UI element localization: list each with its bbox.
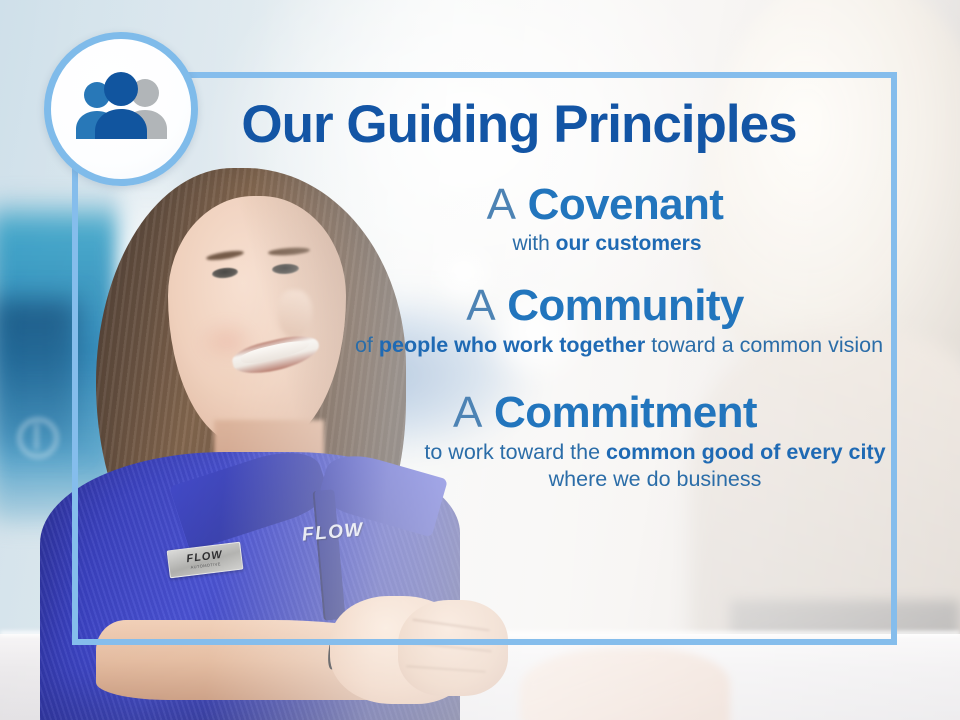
principle-commitment-article: A [453,388,482,437]
principle-community-desc-part: toward a common vision [645,333,883,357]
principle-community-title: A Community [312,283,898,330]
principle-commitment-description: to work toward the common good of every … [312,439,898,493]
principle-commitment: A Commitment to work toward the common g… [312,390,898,492]
guiding-principles-graphic: FLOW AUTOMOTIVE FLOW Our Guiding Princip… [0,0,960,720]
principle-commitment-desc-part: where we do business [549,467,762,491]
principle-community-desc-part: of [355,333,379,357]
principle-community-description: of people who work together toward a com… [312,332,898,359]
principle-commitment-desc-part: to work toward the [424,440,606,464]
principle-covenant: A Covenant with our customers [312,182,898,257]
principle-covenant-title: A Covenant [312,182,898,229]
second-person-hand [520,648,730,720]
principle-community: A Community of people who work together … [312,283,898,359]
principles-list: A Covenant with our customers A Communit… [312,182,898,499]
principle-community-word: Community [507,281,744,330]
principle-commitment-title: A Commitment [312,390,898,437]
background-vw-logo-blurred [18,418,58,458]
flow-name-badge-subtext: AUTOMOTIVE [190,562,221,570]
principle-covenant-word: Covenant [528,180,724,229]
principle-commitment-desc-emphasis: common good of every city [606,440,886,464]
principle-covenant-article: A [487,180,516,229]
principle-covenant-desc-part: with [512,232,555,255]
principle-community-article: A [466,281,495,330]
principle-covenant-description: with our customers [312,231,898,257]
principle-commitment-word: Commitment [494,388,757,437]
principle-covenant-desc-emphasis: our customers [556,232,702,255]
page-title: Our Guiding Principles [0,98,960,152]
principle-community-desc-emphasis: people who work together [379,333,645,357]
